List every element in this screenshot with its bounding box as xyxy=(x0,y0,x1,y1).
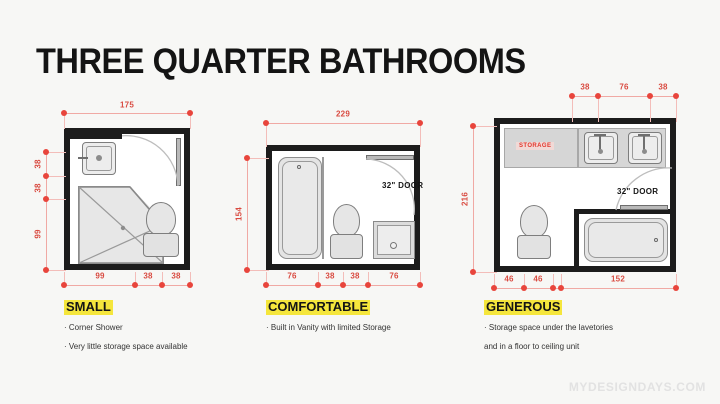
dim-ext-comf-1 xyxy=(266,123,267,147)
dim-dot xyxy=(470,269,476,275)
faucet-icon-small xyxy=(78,157,88,159)
caption-line-small-1: · Corner Shower xyxy=(64,322,123,333)
dim-label-left-small-1: 38 xyxy=(34,159,43,168)
tub-edge-comfortable xyxy=(322,157,324,259)
dim-line-top-small xyxy=(64,113,190,114)
dim-dot xyxy=(244,267,250,273)
sink-drain-generous-1 xyxy=(598,149,603,154)
toilet-bowl-comfortable xyxy=(333,204,360,237)
dim-dot xyxy=(558,285,564,291)
bathtub-inner-generous xyxy=(588,222,664,258)
door-swing-arc-small xyxy=(118,134,184,190)
dim-dot xyxy=(263,282,269,288)
dim-label-top-small: 175 xyxy=(120,101,134,110)
caption-title-comfortable: COMFORTABLE xyxy=(266,300,370,315)
dim-ext-small-4 xyxy=(46,176,66,177)
dim-ext-comf-4 xyxy=(247,270,269,271)
toilet-tank-small xyxy=(143,233,179,257)
caption-title-small: SMALL xyxy=(64,300,113,315)
dim-line-left-comfortable xyxy=(247,158,248,270)
caption-line-generous-1: · Storage space under the lavetories xyxy=(484,322,613,333)
dim-ext-small-3 xyxy=(46,152,66,153)
dim-label-bottom-comf-2: 38 xyxy=(325,272,334,281)
dim-label-top-gen-2: 76 xyxy=(619,83,628,92)
watermark: MYDESIGNDAYS.COM xyxy=(569,380,706,394)
dim-label-bottom-small-2: 38 xyxy=(143,272,152,281)
dim-label-bottom-gen-2: 46 xyxy=(533,275,542,284)
room-outline-generous: STORAGE xyxy=(494,118,676,272)
dim-dot xyxy=(569,93,575,99)
dim-dot xyxy=(43,196,49,202)
dim-dot xyxy=(132,282,138,288)
toilet-bowl-small xyxy=(146,202,176,236)
dim-dot xyxy=(550,285,556,291)
dim-dot xyxy=(61,110,67,116)
caption-line-small-2: · Very little storage space available xyxy=(64,341,188,352)
dim-dot xyxy=(43,173,49,179)
dim-dot xyxy=(491,285,497,291)
dim-line-bottom-small xyxy=(64,285,190,286)
tub-alcove-wall-generous xyxy=(574,209,579,266)
dim-dot xyxy=(187,110,193,116)
dim-label-bottom-comf-3: 38 xyxy=(350,272,359,281)
dim-line-left-small xyxy=(46,152,47,270)
dim-line-top-comfortable xyxy=(266,123,420,124)
room-outline-small xyxy=(64,128,190,270)
dim-label-bottom-comf-4: 76 xyxy=(389,272,398,281)
bathtub-icon-comfortable xyxy=(278,157,322,259)
dim-dot xyxy=(187,282,193,288)
dim-label-bottom-comf-1: 76 xyxy=(287,272,296,281)
dim-label-bottom-small-3: 38 xyxy=(171,272,180,281)
room-interior-small xyxy=(70,134,184,264)
dim-label-top-gen-3: 38 xyxy=(658,83,667,92)
sink-drain-generous-2 xyxy=(642,149,647,154)
vanity-drain-comfortable xyxy=(390,242,397,249)
dim-ext-gen-3 xyxy=(650,96,651,122)
dim-label-bottom-gen-3: 152 xyxy=(611,275,625,284)
dim-line-top-generous xyxy=(572,96,676,97)
dim-label-left-generous: 216 xyxy=(461,192,470,206)
dim-dot xyxy=(43,149,49,155)
dim-dot xyxy=(61,282,67,288)
dim-dot xyxy=(417,282,423,288)
room-interior-comfortable: 32" DOOR xyxy=(272,151,414,264)
room-interior-generous: STORAGE xyxy=(500,124,670,266)
page-title: THREE QUARTER BATHROOMS xyxy=(36,42,526,82)
dim-ext-gen-1 xyxy=(572,96,573,122)
dim-dot xyxy=(43,267,49,273)
dim-dot xyxy=(315,282,321,288)
faucet-spout-generous-2 xyxy=(638,134,650,136)
dim-dot xyxy=(417,120,423,126)
door-label-comfortable: 32" DOOR xyxy=(382,181,423,190)
faucet-spout-generous-1 xyxy=(594,134,606,136)
caption-title-generous: GENEROUS xyxy=(484,300,562,315)
toilet-tank-comfortable xyxy=(330,234,363,259)
bathtub-inner-comfortable xyxy=(282,161,318,255)
dim-ext-comf-3 xyxy=(247,158,269,159)
dim-label-left-small-2: 38 xyxy=(34,183,43,192)
dim-ext-comf-2 xyxy=(420,123,421,147)
caption-line-comfortable-1: · Built in Vanity with limited Storage xyxy=(266,322,391,333)
dim-dot xyxy=(159,282,165,288)
dim-label-top-comfortable: 229 xyxy=(336,110,350,119)
dim-dot xyxy=(263,120,269,126)
dim-ext-gen-2 xyxy=(598,96,599,122)
toilet-tank-generous xyxy=(517,235,551,259)
room-outline-comfortable: 32" DOOR xyxy=(266,145,420,270)
storage-label-generous: STORAGE xyxy=(516,142,554,150)
dim-dot xyxy=(470,123,476,129)
dim-dot xyxy=(365,282,371,288)
dim-ext-gen-6 xyxy=(473,272,497,273)
dim-label-bottom-small-1: 99 xyxy=(95,272,104,281)
dim-dot xyxy=(340,282,346,288)
door-header-small xyxy=(70,134,122,139)
dim-ext-gen-5 xyxy=(473,126,497,127)
dim-dot xyxy=(673,93,679,99)
dim-label-top-gen-1: 38 xyxy=(580,83,589,92)
dim-label-left-comfortable: 154 xyxy=(235,207,244,221)
vanity-sink-comfortable xyxy=(377,225,411,255)
dim-dot xyxy=(673,285,679,291)
dim-ext-gen-4 xyxy=(676,96,677,122)
dim-ext-small-6 xyxy=(46,270,66,271)
dim-label-bottom-gen-1: 46 xyxy=(504,275,513,284)
sink-icon-generous-1 xyxy=(584,132,618,164)
dim-ext-small-5 xyxy=(46,199,66,200)
caption-line-generous-2: and in a floor to ceiling unit xyxy=(484,341,579,352)
door-label-generous: 32" DOOR xyxy=(617,187,658,196)
bathtub-drain-generous xyxy=(654,238,658,242)
dim-dot xyxy=(595,93,601,99)
dim-dot xyxy=(244,155,250,161)
poster-canvas: THREE QUARTER BATHROOMS xyxy=(0,0,720,404)
dim-dot xyxy=(647,93,653,99)
dim-line-left-generous xyxy=(473,126,474,272)
dim-label-left-small-3: 99 xyxy=(34,229,43,238)
bathtub-drain-comfortable xyxy=(297,165,301,169)
sink-icon-generous-2 xyxy=(628,132,662,164)
sink-drain-small xyxy=(96,155,102,161)
dim-dot xyxy=(521,285,527,291)
toilet-bowl-generous xyxy=(520,205,548,238)
